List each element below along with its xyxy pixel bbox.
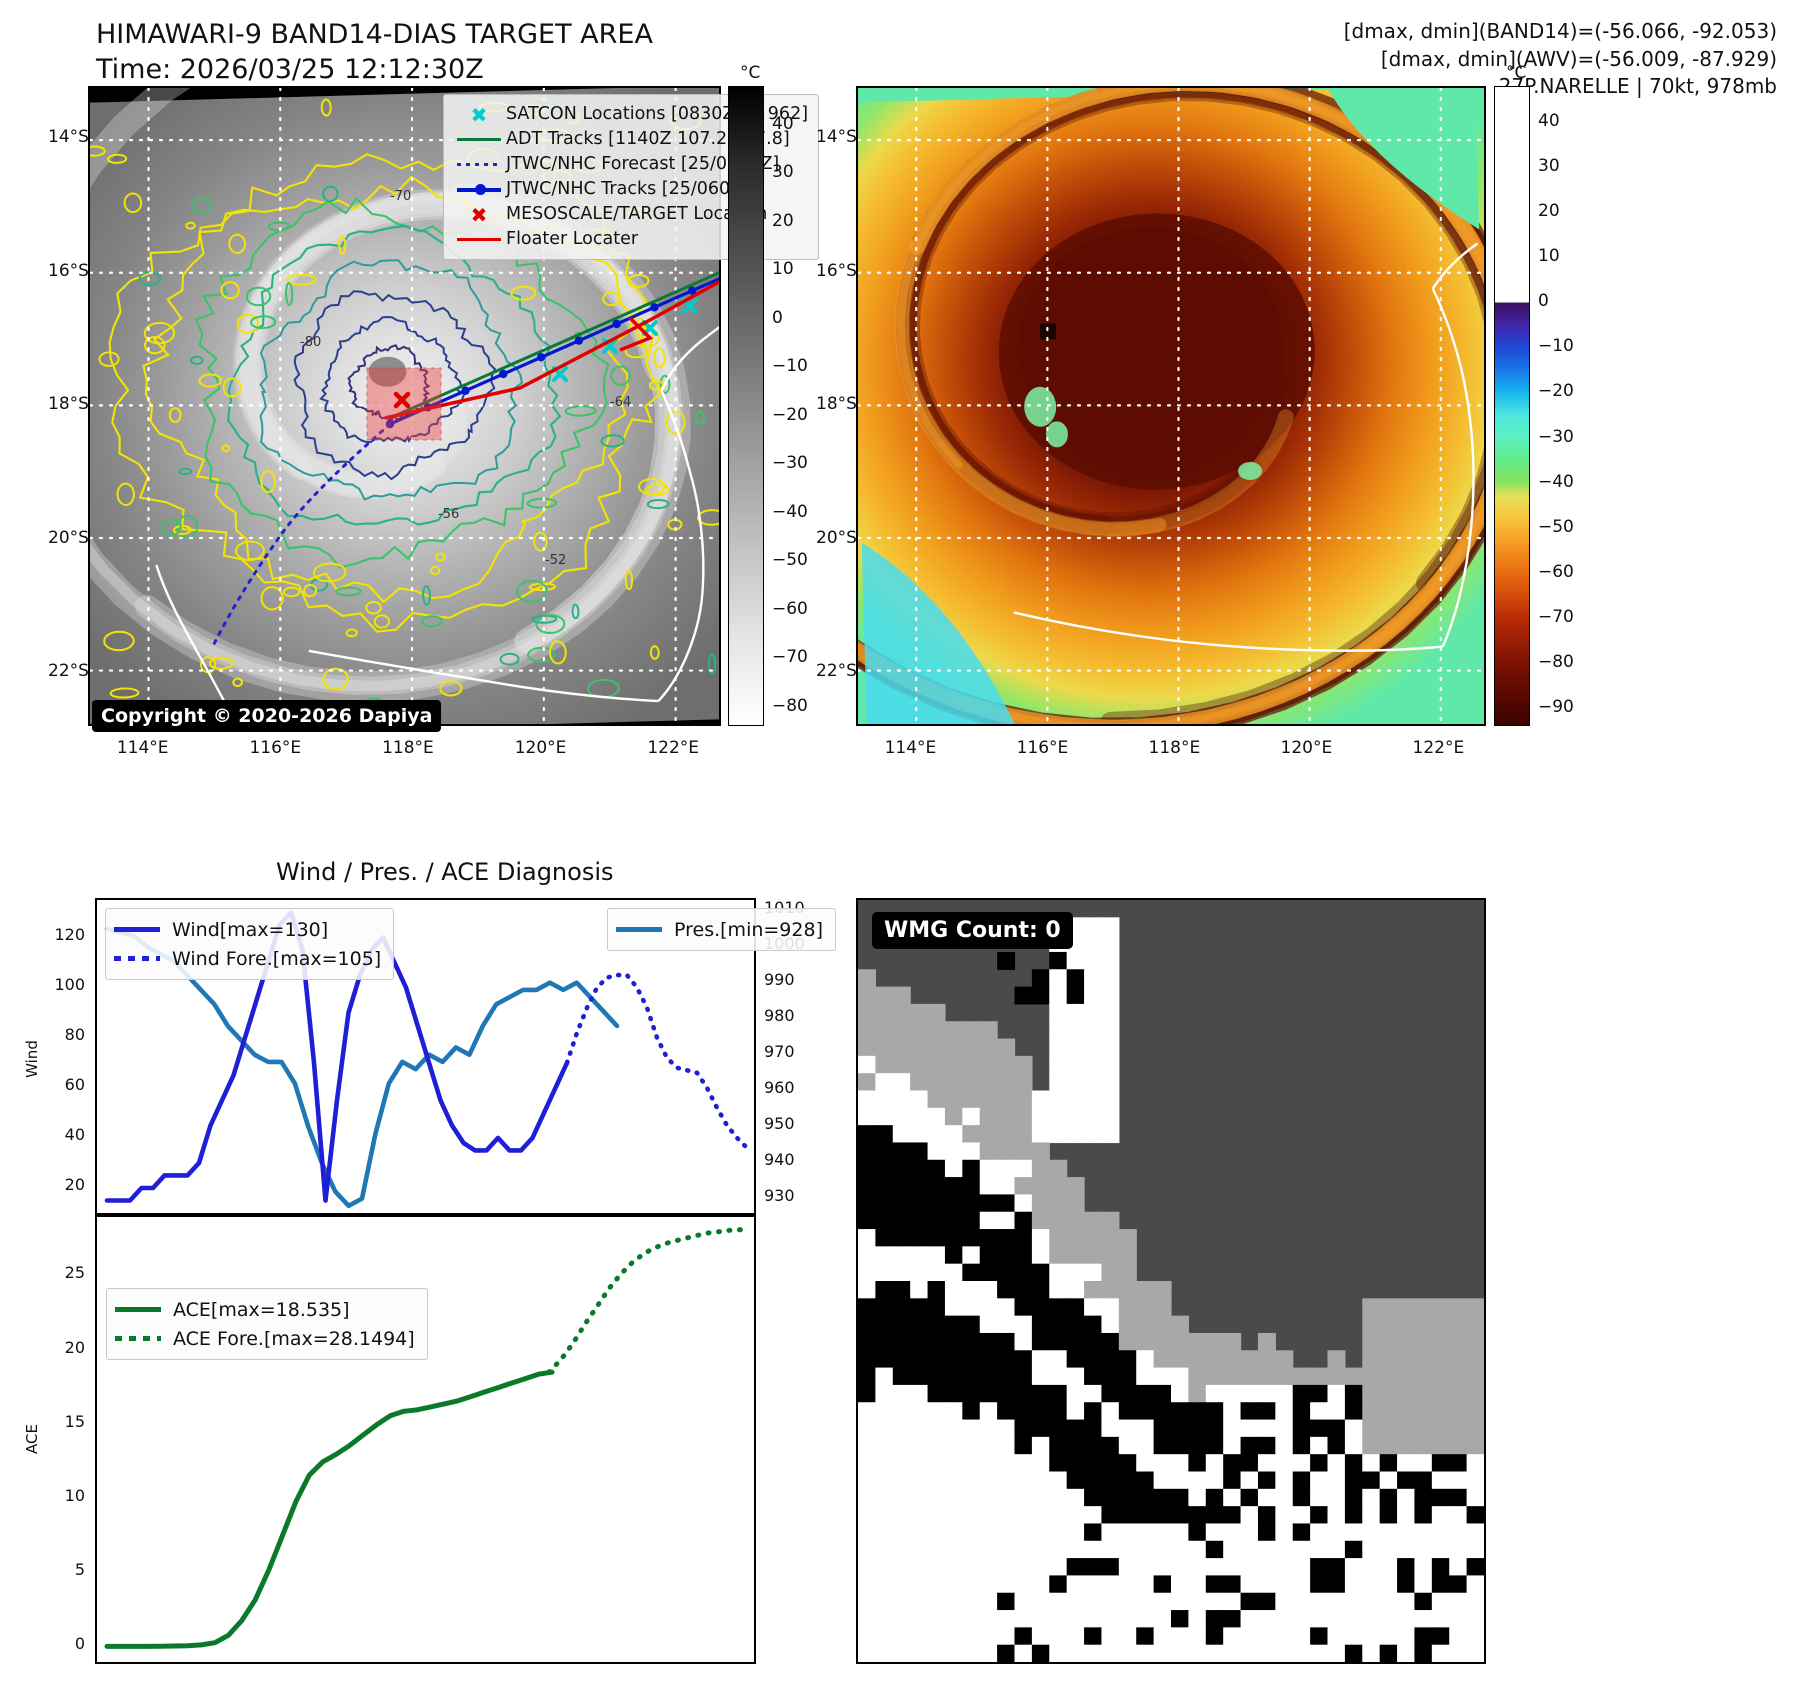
map_right-lat-tick: 20°S bbox=[816, 528, 857, 548]
legend-symbol-dotted bbox=[115, 1336, 173, 1341]
ace-chart-y-tick: 10 bbox=[65, 1486, 85, 1505]
wind-chart-y-tick: 60 bbox=[65, 1075, 85, 1094]
right-colorbar-tick: −80 bbox=[1538, 652, 1574, 672]
left-colorbar-tick: −70 bbox=[772, 647, 808, 667]
map_left-lon-tick: 118°E bbox=[382, 738, 434, 758]
map_left-lat-tick: 18°S bbox=[48, 394, 89, 414]
map_left-lat-tick: 14°S bbox=[48, 127, 89, 147]
wmg-mask-canvas bbox=[858, 900, 1484, 1662]
left-colorbar-tick: −30 bbox=[772, 453, 808, 473]
title-line-1: HIMAWARI-9 BAND14-DIAS TARGET AREA bbox=[96, 18, 653, 53]
map_left-lon-tick: 114°E bbox=[117, 738, 169, 758]
legend-symbol-solid bbox=[114, 927, 172, 932]
ace-chart-y-tick: 25 bbox=[65, 1263, 85, 1282]
left-colorbar bbox=[728, 86, 764, 726]
left-colorbar-tick: 40 bbox=[772, 114, 794, 134]
ir-enhanced-map[interactable] bbox=[856, 86, 1486, 726]
chart-legend-item: Pres.[min=928] bbox=[616, 915, 823, 944]
left-colorbar-tick: −20 bbox=[772, 405, 808, 425]
legend-symbol-dotted bbox=[114, 956, 172, 961]
chart-legend-label: Pres.[min=928] bbox=[674, 919, 823, 941]
ace-chart[interactable] bbox=[95, 1215, 756, 1664]
wind-chart-y2-tick: 930 bbox=[764, 1186, 795, 1205]
wind-chart-legend: Wind[max=130]Wind Fore.[max=105] bbox=[105, 908, 394, 980]
legend-symbol-solid-line bbox=[452, 238, 506, 241]
wmg-count-badge: WMG Count: 0 bbox=[872, 912, 1073, 949]
wind-chart-y-tick: 100 bbox=[54, 975, 85, 994]
right-colorbar-tick: −50 bbox=[1538, 517, 1574, 537]
map_right-lon-tick: 114°E bbox=[885, 738, 937, 758]
ace-chart-y-tick: 5 bbox=[75, 1560, 85, 1579]
legend-symbol-x-marker: ✖ bbox=[452, 205, 506, 225]
map_right-lon-tick: 120°E bbox=[1281, 738, 1333, 758]
right-colorbar-tick: 30 bbox=[1538, 156, 1560, 176]
left-colorbar-tick: 30 bbox=[772, 162, 794, 182]
chart-legend-label: Wind Fore.[max=105] bbox=[172, 948, 381, 970]
ir-map-canvas bbox=[858, 88, 1484, 724]
map_right-lat-tick: 22°S bbox=[816, 661, 857, 681]
legend-symbol-dotted-line bbox=[452, 163, 506, 166]
wind-chart-y-tick: 20 bbox=[65, 1175, 85, 1194]
chart-legend-label: Wind[max=130] bbox=[172, 919, 328, 941]
right-colorbar-units: °C bbox=[1506, 63, 1526, 83]
map_left-lon-tick: 120°E bbox=[515, 738, 567, 758]
contour-label: -64 bbox=[610, 395, 631, 410]
wind-chart-y-tick: 40 bbox=[65, 1125, 85, 1144]
left-colorbar-tick: −40 bbox=[772, 502, 808, 522]
wind-chart-y2-tick: 960 bbox=[764, 1078, 795, 1097]
chart-legend-item: Wind[max=130] bbox=[114, 915, 381, 944]
map_right-lon-tick: 122°E bbox=[1413, 738, 1465, 758]
legend-symbol-line-with-dot bbox=[452, 188, 506, 192]
legend-symbol-solid-line bbox=[452, 138, 506, 141]
right-colorbar-tick: 0 bbox=[1538, 291, 1549, 311]
map_right-lat-tick: 18°S bbox=[816, 394, 857, 414]
contour-label: -56 bbox=[438, 507, 459, 522]
wind-chart-y2-tick: 940 bbox=[764, 1150, 795, 1169]
legend-symbol-x-marker: ✖ bbox=[452, 105, 506, 125]
wind-chart-y2-tick: 990 bbox=[764, 970, 795, 989]
left-colorbar-tick: 10 bbox=[772, 259, 794, 279]
dmax-dmin-awv: [dmax, dmin](AWV)=(-56.009, -87.929) bbox=[1344, 46, 1777, 74]
map_left-lon-tick: 122°E bbox=[647, 738, 699, 758]
wind-chart-y2-tick: 980 bbox=[764, 1006, 795, 1025]
contour-label: -70 bbox=[390, 189, 411, 204]
wind-chart-y-tick: 120 bbox=[54, 925, 85, 944]
pressure-chart-legend: Pres.[min=928] bbox=[607, 908, 836, 951]
legend-symbol-solid bbox=[616, 927, 674, 932]
right-colorbar-tick: 40 bbox=[1538, 111, 1560, 131]
wmg-cloud-cluster-panel[interactable] bbox=[856, 898, 1486, 1664]
left-colorbar-units: °C bbox=[740, 63, 760, 83]
ace-chart-canvas bbox=[97, 1217, 754, 1662]
right-colorbar-tick: −70 bbox=[1538, 607, 1574, 627]
left-colorbar-tick: 20 bbox=[772, 211, 794, 231]
legend-symbol-solid bbox=[115, 1307, 173, 1312]
right-colorbar-tick: −40 bbox=[1538, 472, 1574, 492]
ace-chart-legend: ACE[max=18.535]ACE Fore.[max=28.1494] bbox=[106, 1288, 428, 1360]
map_left-lat-tick: 16°S bbox=[48, 261, 89, 281]
wind-chart-y-tick: 80 bbox=[65, 1025, 85, 1044]
wind-axis-label: Wind bbox=[23, 1029, 41, 1089]
map-legend-label: JTWC/NHC Tracks [25/0600Z] bbox=[506, 181, 760, 199]
map_right-lat-tick: 14°S bbox=[816, 127, 857, 147]
right-colorbar-tick: 20 bbox=[1538, 201, 1560, 221]
chart-legend-label: ACE Fore.[max=28.1494] bbox=[173, 1328, 415, 1350]
wind-chart-y2-tick: 970 bbox=[764, 1042, 795, 1061]
map_left-lat-tick: 20°S bbox=[48, 528, 89, 548]
chart-legend-label: ACE[max=18.535] bbox=[173, 1299, 350, 1321]
title-line-2: Time: 2026/03/25 12:12:30Z bbox=[96, 53, 653, 88]
left-colorbar-tick: −50 bbox=[772, 550, 808, 570]
left-colorbar-tick: −10 bbox=[772, 356, 808, 376]
chart-title: Wind / Pres. / ACE Diagnosis bbox=[276, 858, 614, 886]
right-colorbar bbox=[1494, 86, 1530, 726]
left-colorbar-tick: −80 bbox=[772, 696, 808, 716]
right-colorbar-tick: −30 bbox=[1538, 427, 1574, 447]
right-colorbar-tick: −10 bbox=[1538, 336, 1574, 356]
left-colorbar-tick: 0 bbox=[772, 308, 783, 328]
chart-legend-item: Wind Fore.[max=105] bbox=[114, 944, 381, 973]
dmax-dmin-band14: [dmax, dmin](BAND14)=(-56.066, -92.053) bbox=[1344, 18, 1777, 46]
chart-legend-item: ACE Fore.[max=28.1494] bbox=[115, 1324, 415, 1353]
map-legend-label: Floater Locater bbox=[506, 231, 638, 249]
map_left-lon-tick: 116°E bbox=[249, 738, 301, 758]
ace-chart-y-tick: 15 bbox=[65, 1412, 85, 1431]
map_right-lon-tick: 118°E bbox=[1149, 738, 1201, 758]
wind-chart-y2-tick: 950 bbox=[764, 1114, 795, 1133]
ace-chart-y-tick: 20 bbox=[65, 1338, 85, 1357]
right-colorbar-tick: −20 bbox=[1538, 381, 1574, 401]
ace-chart-y-tick: 0 bbox=[75, 1634, 85, 1653]
right-colorbar-tick: −90 bbox=[1538, 697, 1574, 717]
copyright-notice: Copyright © 2020-2026 Dapiya bbox=[92, 700, 441, 732]
chart-legend-item: ACE[max=18.535] bbox=[115, 1295, 415, 1324]
contour-label: -80 bbox=[300, 335, 321, 350]
right-colorbar-tick: −60 bbox=[1538, 562, 1574, 582]
left-colorbar-tick: −60 bbox=[772, 599, 808, 619]
page-title: HIMAWARI-9 BAND14-DIAS TARGET AREA Time:… bbox=[96, 18, 653, 87]
ace-axis-label: ACE bbox=[23, 1409, 41, 1469]
map_right-lon-tick: 116°E bbox=[1017, 738, 1069, 758]
map_left-lat-tick: 22°S bbox=[48, 661, 89, 681]
right-colorbar-tick: 10 bbox=[1538, 246, 1560, 266]
map_right-lat-tick: 16°S bbox=[816, 261, 857, 281]
contour-label: -52 bbox=[545, 553, 566, 568]
